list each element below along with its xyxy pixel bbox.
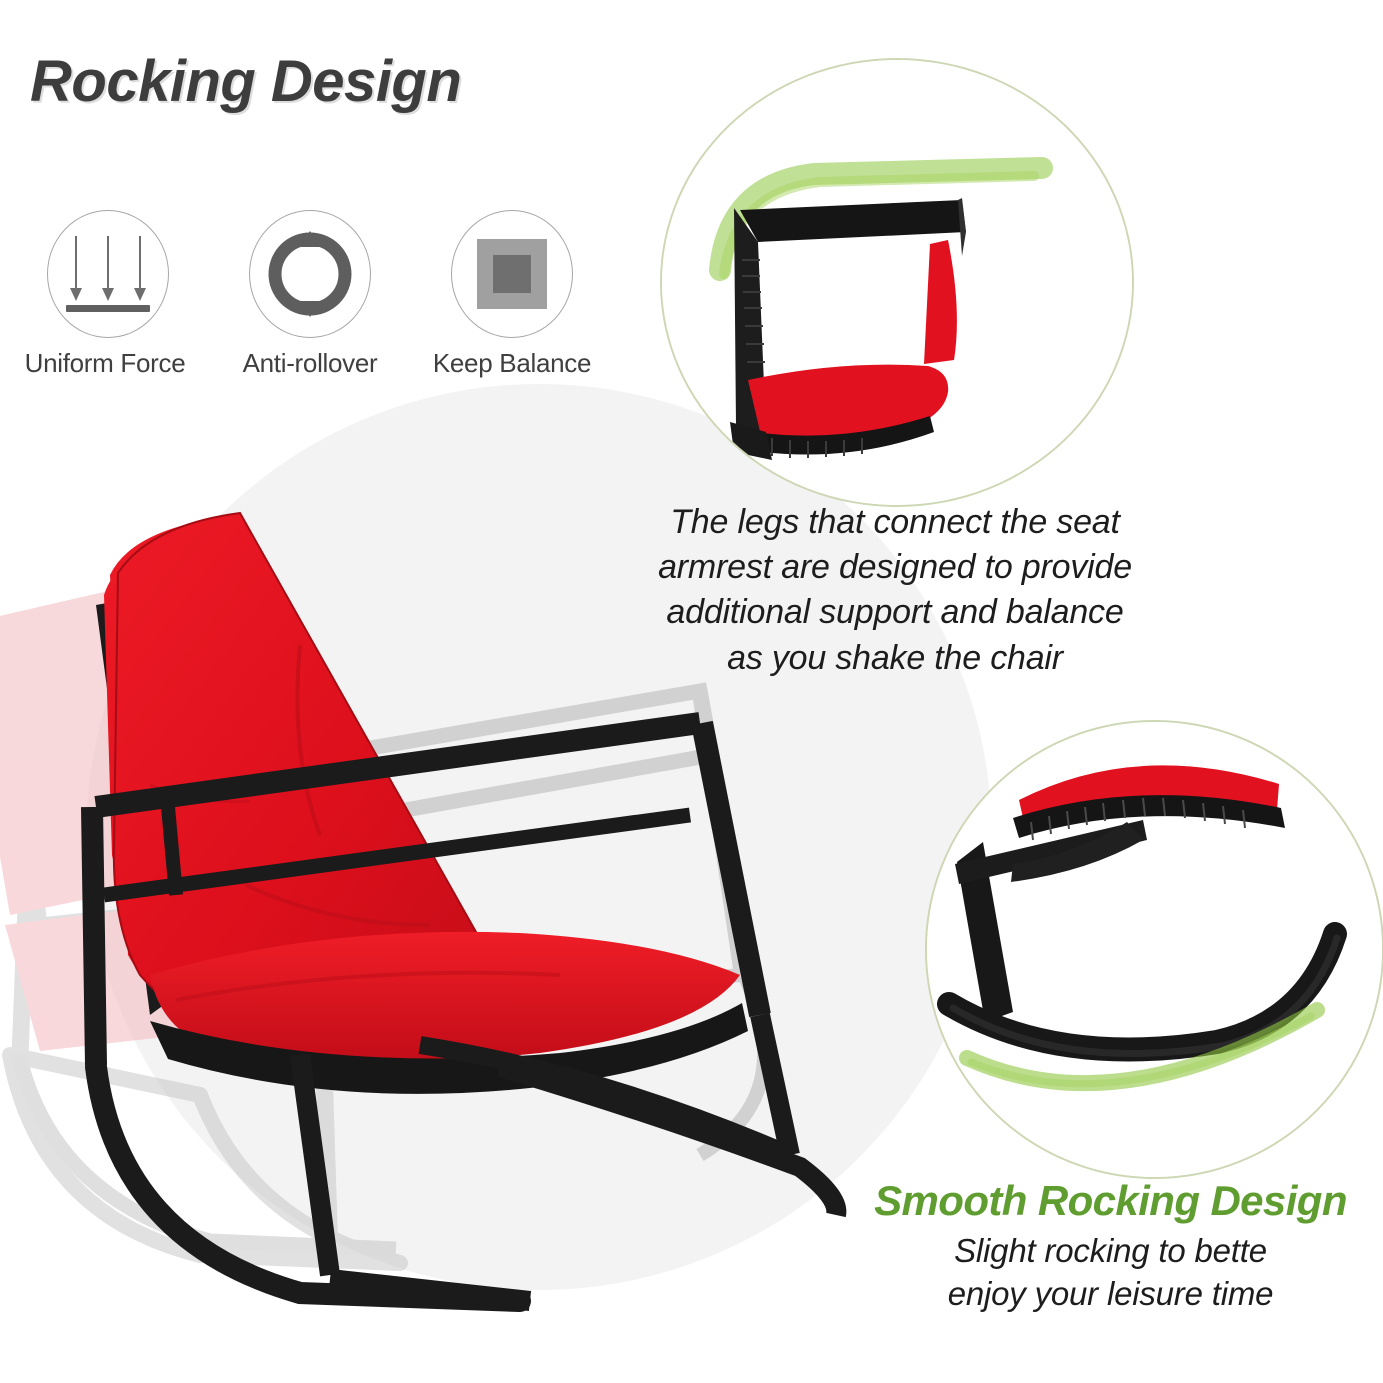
feature-anti-rollover: Anti-rollover bbox=[220, 210, 400, 379]
cta-title: Smooth Rocking Design bbox=[838, 1178, 1383, 1224]
rocker-base-closeup-inset bbox=[925, 720, 1383, 1179]
description-line: as you shake the chair bbox=[610, 636, 1180, 681]
feature-icon-row: Uniform Force Anti-rollover bbox=[18, 210, 618, 395]
feature-icon-circle bbox=[249, 210, 371, 338]
cta-subtitle-line: enjoy your leisure time bbox=[838, 1273, 1383, 1316]
rotation-arrows-icon bbox=[266, 230, 354, 318]
feature-icon-circle bbox=[47, 210, 169, 338]
infographic-canvas: Rocking Design Uniform Force bbox=[0, 0, 1383, 1383]
cta-subtitle: Slight rocking to bette enjoy your leisu… bbox=[838, 1230, 1383, 1316]
description-line: additional support and balance bbox=[610, 590, 1180, 635]
description-line: armrest are designed to provide bbox=[610, 545, 1180, 590]
cta-block: Smooth Rocking Design Slight rocking to … bbox=[838, 1178, 1383, 1316]
nested-squares-icon bbox=[477, 239, 547, 309]
feature-label: Uniform Force bbox=[12, 348, 198, 379]
page-title: Rocking Design bbox=[30, 52, 461, 113]
armrest-leg-closeup-inset bbox=[660, 58, 1134, 507]
feature-label: Anti-rollover bbox=[220, 348, 400, 379]
feature-keep-balance: Keep Balance bbox=[422, 210, 602, 379]
cta-subtitle-line: Slight rocking to bette bbox=[838, 1230, 1383, 1273]
feature-uniform-force: Uniform Force bbox=[18, 210, 198, 379]
feature-icon-circle bbox=[451, 210, 573, 338]
down-arrows-on-bar-icon bbox=[66, 236, 150, 312]
feature-label: Keep Balance bbox=[422, 348, 602, 379]
description-text: The legs that connect the seat armrest a… bbox=[610, 500, 1180, 681]
